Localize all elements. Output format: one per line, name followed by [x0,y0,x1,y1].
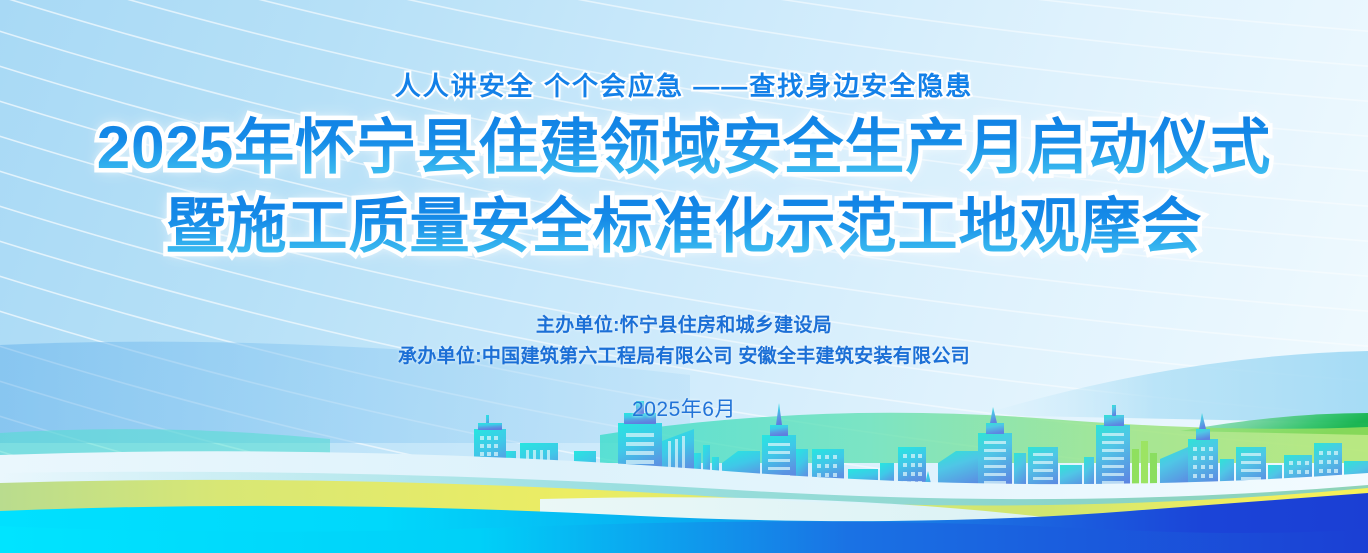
title-line-1: 2025年怀宁县住建领域安全生产月启动仪式 [0,108,1368,187]
host-unit-line: 主办单位:怀宁县住房和城乡建设局 [0,310,1368,341]
main-title: 2025年怀宁县住建领域安全生产月启动仪式 暨施工质量安全标准化示范工地观摩会 [0,108,1368,266]
safety-slogan: 人人讲安全 个个会应急 ——查找身边安全隐患 [0,66,1368,103]
event-banner: 人人讲安全 个个会应急 ——查找身边安全隐患 2025年怀宁县住建领域安全生产月… [0,0,1368,553]
banner-text-content: 人人讲安全 个个会应急 ——查找身边安全隐患 2025年怀宁县住建领域安全生产月… [0,0,1368,553]
event-date: 2025年6月 [0,393,1368,423]
title-line-2: 暨施工质量安全标准化示范工地观摩会 [0,187,1368,266]
organizer-block: 主办单位:怀宁县住房和城乡建设局 承办单位:中国建筑第六工程局有限公司 安徽全丰… [0,310,1368,423]
organizer-unit-line: 承办单位:中国建筑第六工程局有限公司 安徽全丰建筑安装有限公司 [0,341,1368,372]
